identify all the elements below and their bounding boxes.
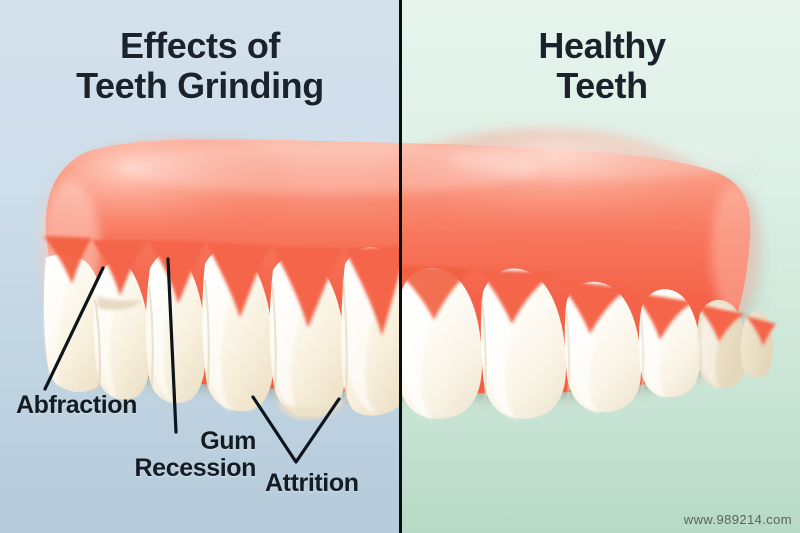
panel-divider-line xyxy=(399,0,402,533)
callout-label-attrition: Attrition xyxy=(265,470,359,497)
left-panel-title: Effects of Teeth Grinding xyxy=(18,26,382,107)
callout-label-gum-recession: Gum Recession xyxy=(60,428,256,482)
right-panel-title: Healthy Teeth xyxy=(420,26,784,107)
watermark-text: www.989214.com xyxy=(684,512,792,527)
callout-label-abfraction: Abfraction xyxy=(16,392,137,419)
diagram-canvas: Effects of Teeth Grinding Healthy Teeth … xyxy=(0,0,800,533)
